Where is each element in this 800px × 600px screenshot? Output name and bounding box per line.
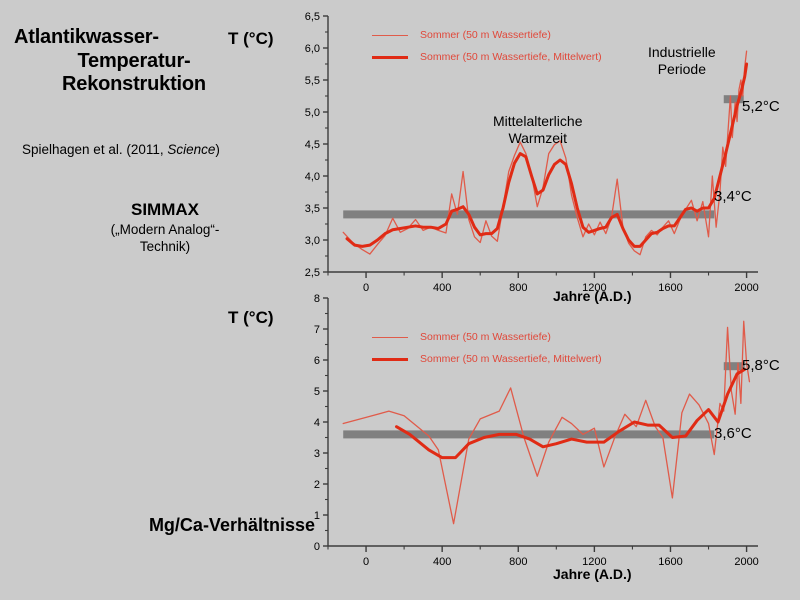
legend-top: Sommer (50 m Wassertiefe) Sommer (50 m W…	[372, 24, 602, 68]
y-axis-tick-label: 3,0	[305, 235, 320, 247]
y-axis-tick-label: 7	[314, 324, 320, 336]
y-axis-tick-label: 6	[314, 355, 320, 367]
legend-label: Sommer (50 m Wassertiefe)	[420, 29, 551, 41]
legend-entry: Sommer (50 m Wassertiefe, Mittelwert)	[372, 348, 602, 370]
y-axis-tick-label: 1	[314, 510, 320, 522]
y-axis-tick-label: 3	[314, 448, 320, 460]
data-series-line	[343, 51, 746, 255]
method-name: SIMMAX	[60, 200, 270, 220]
title-line-2: Temperatur-	[14, 50, 254, 74]
citation-prefix: Spielhagen et al. (2011,	[22, 142, 167, 157]
x-axis-tick-label: 800	[509, 282, 527, 294]
y-axis-tick-label: 5,0	[305, 107, 320, 119]
method-subtitle-line-2: Technik)	[60, 239, 270, 256]
x-axis-tick-label: 400	[433, 556, 451, 568]
y-axis-tick-label: 5,5	[305, 75, 320, 87]
title-line-1: Atlantikwasser-	[14, 26, 254, 50]
y-axis-tick-label: 4,0	[305, 171, 320, 183]
legend-line-thin-icon	[372, 337, 408, 338]
y-axis-tick-label: 6,0	[305, 43, 320, 55]
legend-label: Sommer (50 m Wassertiefe)	[420, 331, 551, 343]
legend-line-thin-icon	[372, 35, 408, 36]
x-axis-tick-label: 1600	[658, 282, 682, 294]
citation-journal: Science	[167, 142, 215, 157]
annotation-line-2: Warmzeit	[493, 130, 582, 147]
proxy-name: Mg/Ca-Verhältnisse	[55, 515, 315, 536]
annotation-line-2: Periode	[648, 61, 716, 78]
x-axis-tick-label: 400	[433, 282, 451, 294]
x-axis-tick-label: 1200	[582, 282, 606, 294]
reference-bar-label-bottom-baseline: 3,6°C	[714, 425, 752, 442]
legend-entry: Sommer (50 m Wassertiefe)	[372, 326, 602, 348]
legend-bottom: Sommer (50 m Wassertiefe) Sommer (50 m W…	[372, 326, 602, 370]
annotation-line-1: Industrielle	[648, 44, 716, 61]
x-axis-title-bottom: Jahre (A.D.)	[553, 566, 632, 582]
legend-line-thick-icon	[372, 56, 408, 59]
citation: Spielhagen et al. (2011, Science)	[22, 142, 272, 157]
annotation-line-1: Mittelalterliche	[493, 113, 582, 130]
legend-label: Sommer (50 m Wassertiefe, Mittelwert)	[420, 51, 602, 63]
annotation-industrial-period: Industrielle Periode	[648, 44, 716, 77]
reference-bar-label-bottom-modern: 5,8°C	[742, 357, 780, 374]
reference-bar	[343, 210, 714, 218]
x-axis-tick-label: 0	[363, 556, 369, 568]
x-axis-tick-label: 800	[509, 556, 527, 568]
y-axis-tick-label: 4,5	[305, 139, 320, 151]
y-axis-title-top: T (°C)	[228, 29, 274, 49]
data-series-line	[347, 64, 747, 246]
legend-label: Sommer (50 m Wassertiefe, Mittelwert)	[420, 353, 602, 365]
x-axis-tick-label: 2000	[734, 556, 758, 568]
y-axis-tick-label: 2,5	[305, 267, 320, 279]
data-series-line	[397, 369, 745, 457]
title-line-3: Rekonstruktion	[14, 73, 254, 97]
legend-entry: Sommer (50 m Wassertiefe)	[372, 24, 602, 46]
legend-line-thick-icon	[372, 358, 408, 361]
method-subtitle: („Modern Analog“- Technik)	[60, 222, 270, 256]
slide-root: Atlantikwasser- Temperatur- Rekonstrukti…	[0, 0, 800, 600]
citation-suffix: )	[215, 142, 220, 157]
y-axis-tick-label: 5	[314, 386, 320, 398]
y-axis-tick-label: 0	[314, 541, 320, 553]
page-title: Atlantikwasser- Temperatur- Rekonstrukti…	[14, 26, 254, 97]
x-axis-tick-label: 0	[363, 282, 369, 294]
y-axis-tick-label: 6,5	[305, 11, 320, 23]
legend-entry: Sommer (50 m Wassertiefe, Mittelwert)	[372, 46, 602, 68]
y-axis-tick-label: 4	[314, 417, 320, 429]
y-axis-tick-label: 2	[314, 479, 320, 491]
method-subtitle-line-1: („Modern Analog“-	[60, 222, 270, 239]
y-axis-tick-label: 8	[314, 293, 320, 305]
x-axis-tick-label: 1600	[658, 556, 682, 568]
y-axis-tick-label: 3,5	[305, 203, 320, 215]
annotation-medieval-warm-period: Mittelalterliche Warmzeit	[493, 113, 582, 146]
x-axis-tick-label: 1200	[582, 556, 606, 568]
y-axis-title-bottom: T (°C)	[228, 308, 274, 328]
x-axis-tick-label: 2000	[734, 282, 758, 294]
reference-bar-label-top-baseline: 3,4°C	[714, 188, 752, 205]
reference-bar-label-top-modern: 5,2°C	[742, 98, 780, 115]
